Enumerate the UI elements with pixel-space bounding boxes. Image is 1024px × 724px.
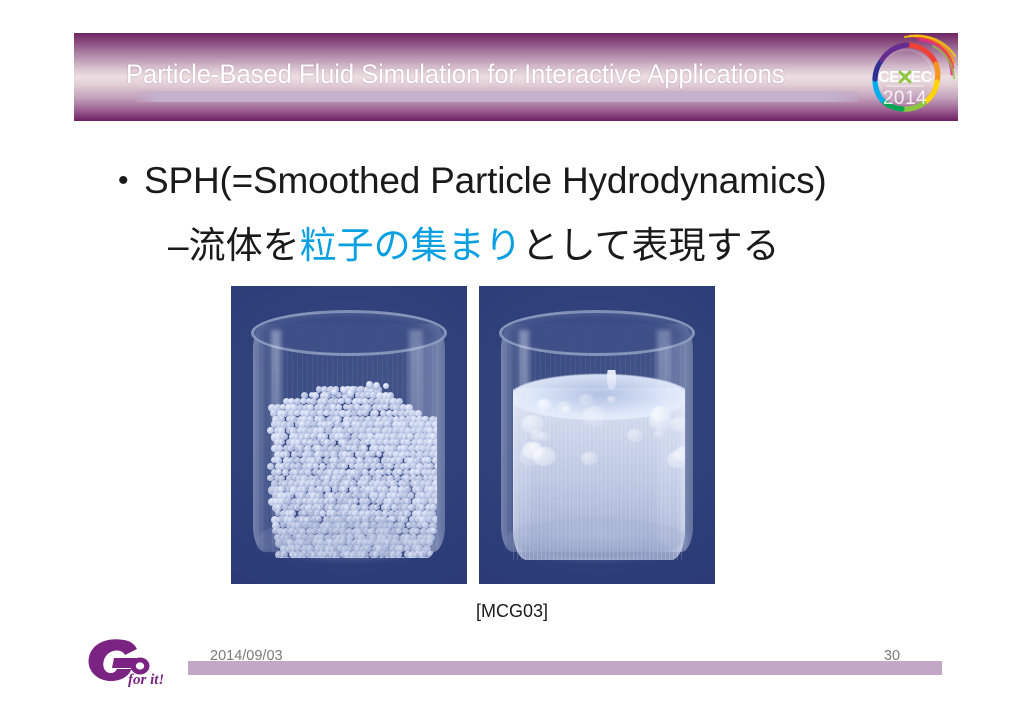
sub-bullet-dash-icon: – bbox=[168, 225, 189, 267]
fluid-blob bbox=[582, 406, 606, 425]
sub-bullet-line-1: –流体を粒子の集まりとして表現する bbox=[168, 215, 1024, 269]
particle bbox=[423, 557, 431, 558]
footer-date: 2014/09/03 bbox=[210, 648, 283, 664]
cup-highlight-right bbox=[657, 330, 671, 545]
sub-text-before: 流体を bbox=[189, 225, 300, 266]
fluid-blob bbox=[579, 394, 594, 406]
cup-highlight-right bbox=[409, 330, 423, 545]
fluid-blob bbox=[581, 452, 598, 465]
cup-highlight-left bbox=[271, 330, 281, 545]
page-number: 30 bbox=[862, 648, 922, 664]
fluid-blob bbox=[533, 451, 543, 459]
sub-text-highlight: 粒子の集まり bbox=[300, 225, 522, 266]
figure-group bbox=[231, 286, 721, 584]
bullet-marker-icon: • bbox=[118, 164, 144, 198]
fluid-splash bbox=[607, 370, 616, 390]
svg-text:2014: 2014 bbox=[883, 88, 927, 109]
footer-bar bbox=[188, 661, 942, 675]
sub-text-after: として表現する bbox=[522, 225, 780, 266]
cup-highlight-left bbox=[519, 330, 529, 545]
slide-canvas: Particle-Based Fluid Simulation for Inte… bbox=[0, 0, 1024, 724]
particle bbox=[410, 557, 417, 558]
fluid-blob bbox=[670, 417, 685, 432]
go-for-it-logo-icon: for it! bbox=[84, 636, 194, 690]
particle bbox=[301, 557, 308, 558]
cedec-logo-icon: CEDEC 2014 bbox=[858, 34, 956, 120]
svg-text:for it!: for it! bbox=[128, 672, 164, 688]
bullet-text-sph: SPH(=Smoothed Particle Hydrodynamics) bbox=[144, 160, 827, 201]
page-title: Particle-Based Fluid Simulation for Inte… bbox=[126, 55, 892, 95]
particle-representation-figure bbox=[231, 286, 467, 584]
bullet-line-1: •SPH(=Smoothed Particle Hydrodynamics) bbox=[118, 160, 978, 202]
glass-cup-right bbox=[497, 308, 697, 566]
glass-cup-left bbox=[249, 308, 449, 566]
particle bbox=[383, 383, 389, 389]
particle bbox=[373, 382, 380, 389]
fluid-surface-figure bbox=[479, 286, 715, 584]
fluid-blob bbox=[557, 401, 572, 413]
particle bbox=[347, 390, 354, 397]
fluid-blob bbox=[607, 396, 616, 403]
figure-caption: [MCG03] bbox=[0, 601, 1024, 622]
slide-header: Particle-Based Fluid Simulation for Inte… bbox=[74, 33, 958, 121]
